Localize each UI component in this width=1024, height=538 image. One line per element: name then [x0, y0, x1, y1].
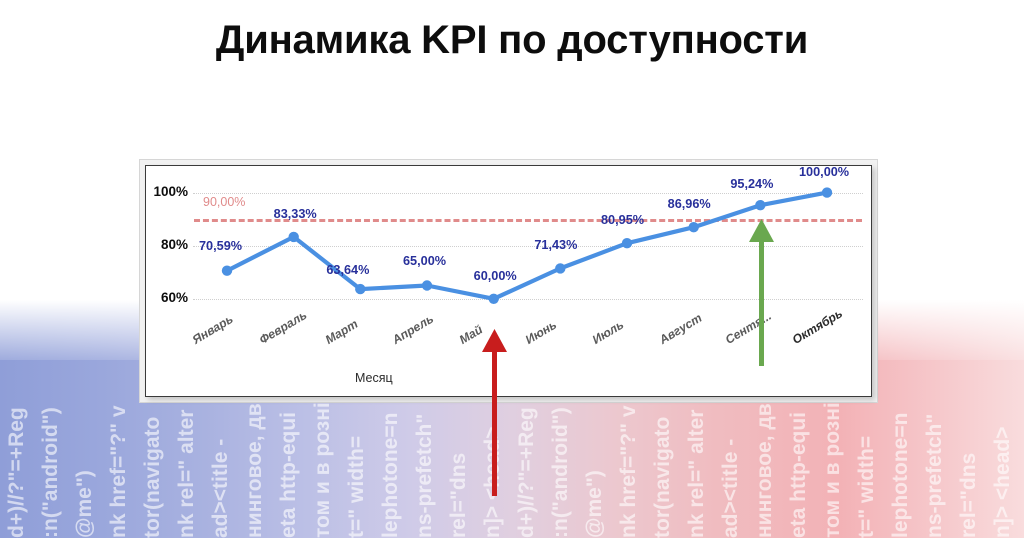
page-title: Динамика KPI по доступности: [0, 18, 1024, 63]
data-point[interactable]: [689, 222, 699, 232]
background-code-column: d+)//?"=+Reg: [0, 360, 34, 538]
background-code-column: ns-prefetch": [918, 360, 952, 538]
background-code-column: @me"): [68, 360, 102, 538]
data-point-label: 83,33%: [274, 207, 317, 221]
data-point-label: 70,59%: [199, 239, 242, 253]
data-point[interactable]: [755, 200, 765, 210]
background-code-column: n]> <head>: [986, 360, 1020, 538]
data-point-label: 60,00%: [474, 269, 517, 283]
data-point[interactable]: [289, 232, 299, 242]
data-point-label: 63,64%: [326, 263, 369, 277]
background-code-column: lephotone=n: [884, 360, 918, 538]
background-code-column: rel="dns: [952, 360, 986, 538]
data-point-label: 86,96%: [668, 197, 711, 211]
data-point[interactable]: [422, 280, 432, 290]
data-point-label: 95,24%: [730, 177, 773, 191]
green-up-arrow-annotation: [746, 216, 778, 368]
background-code-column: nk href="?" v: [102, 360, 136, 538]
data-point-label: 65,00%: [403, 254, 446, 268]
background-code-column: d+)//?"=+Reg: [1020, 360, 1024, 538]
x-axis-title: Месяц: [355, 371, 393, 385]
red-up-arrow-annotation: [479, 326, 511, 498]
data-point[interactable]: [355, 284, 365, 294]
data-point[interactable]: [489, 294, 499, 304]
data-point[interactable]: [222, 266, 232, 276]
data-point[interactable]: [822, 187, 832, 197]
data-point-label: 71,43%: [534, 238, 577, 252]
background-code-column: :n("android"): [34, 360, 68, 538]
data-point-label: 80,95%: [601, 213, 644, 227]
data-point[interactable]: [555, 263, 565, 273]
data-point-label: 100,00%: [799, 165, 849, 179]
data-point[interactable]: [622, 238, 632, 248]
